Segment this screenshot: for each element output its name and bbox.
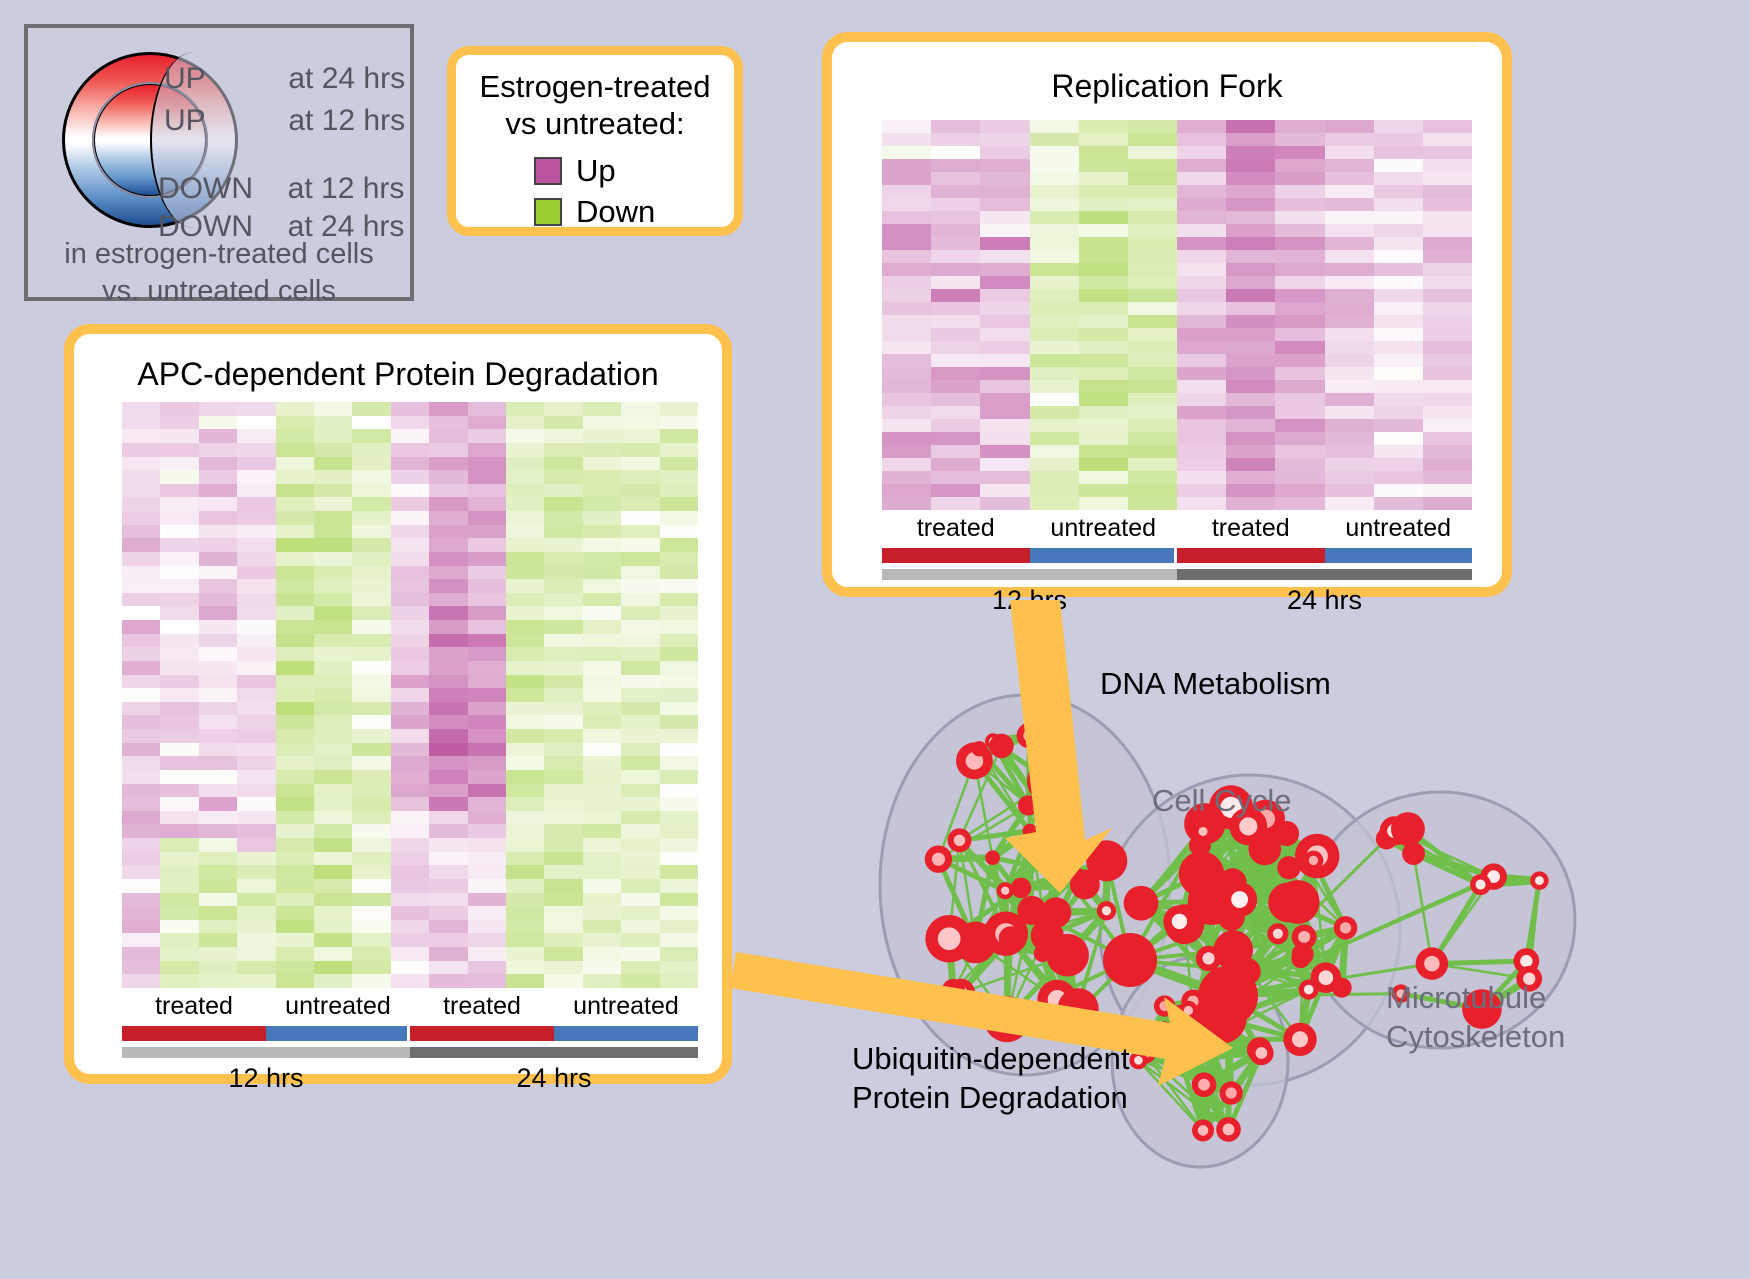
heatmap-cell [506, 879, 544, 893]
heatmap-cell [429, 688, 467, 702]
heatmap-cell [1128, 367, 1177, 380]
heatmap-cell [429, 893, 467, 907]
heatmap-cell [237, 879, 275, 893]
heatmap-cell [122, 443, 160, 457]
heatmap-cell [1128, 198, 1177, 211]
heatmap-cell [1128, 133, 1177, 146]
node-outer-ring [1034, 945, 1051, 962]
heatmap-cell [314, 824, 352, 838]
heatmap-cell [122, 402, 160, 416]
network-node[interactable] [1299, 980, 1319, 1000]
network-node[interactable] [1216, 1117, 1241, 1142]
heatmap-cell [1226, 198, 1275, 211]
heatmap-cell [1226, 133, 1275, 146]
network-node[interactable] [1017, 896, 1046, 925]
heatmap-cell [544, 511, 582, 525]
network-node[interactable] [1196, 946, 1221, 971]
heatmap-cell [122, 729, 160, 743]
network-node[interactable] [1186, 1021, 1206, 1041]
heatmap-cell [583, 893, 621, 907]
heatmap-cell [429, 470, 467, 484]
network-node[interactable] [948, 828, 972, 852]
heatmap-cell [391, 620, 429, 634]
heatmap-cell [429, 511, 467, 525]
heatmap-cell [1374, 159, 1423, 172]
sample-group-label: untreated [1030, 514, 1178, 543]
heatmap-cell [314, 525, 352, 539]
heatmap-cell [160, 933, 198, 947]
heatmap-cell [1079, 458, 1128, 471]
heatmap-cell [429, 552, 467, 566]
network-node[interactable] [925, 915, 972, 962]
heatmap-cell [391, 647, 429, 661]
network-node[interactable] [1192, 1072, 1217, 1097]
network-node[interactable] [1152, 1021, 1175, 1044]
heatmap-cell [468, 511, 506, 525]
heatmap-cell [1128, 406, 1177, 419]
heatmap-cell [276, 552, 314, 566]
heatmap-cell [160, 402, 198, 416]
heatmap-cell [429, 497, 467, 511]
heatmap-cell [980, 406, 1029, 419]
heatmap-cell [506, 620, 544, 634]
heatmap-cell [391, 824, 429, 838]
heatmap-cell [882, 341, 931, 354]
heatmap-cell [1030, 172, 1079, 185]
heatmap-cell [544, 525, 582, 539]
heatmap-cell [1128, 393, 1177, 406]
heatmap-cell [1275, 458, 1324, 471]
heatmap-cell [1374, 419, 1423, 432]
heatmap-cell [160, 470, 198, 484]
network-node[interactable] [1034, 945, 1051, 962]
heatmap-cell [544, 729, 582, 743]
node-inner-core [1520, 955, 1532, 967]
heatmap-cell [122, 715, 160, 729]
heatmap-cell [199, 402, 237, 416]
heatmap-cell [506, 606, 544, 620]
scale-time-12: at 12 hrs [288, 104, 405, 137]
scale-key-up-12: UP [164, 104, 206, 138]
time-bar-segment [122, 1047, 410, 1058]
heatmap-cell [276, 865, 314, 879]
heatmap-cell [1423, 432, 1472, 445]
scale-key-down-12: DOWN [158, 172, 253, 206]
heatmap-cell [468, 675, 506, 689]
network-node[interactable] [1416, 947, 1448, 979]
heatmap-cell [429, 429, 467, 443]
network-node[interactable] [1194, 822, 1213, 841]
heatmap-cell [314, 933, 352, 947]
heatmap-cell [1079, 237, 1128, 250]
heatmap-cell [1079, 250, 1128, 263]
network-node[interactable] [1011, 878, 1032, 899]
heatmap-cell [352, 947, 390, 961]
heatmap-cell [1177, 406, 1226, 419]
heatmap-cell [1374, 237, 1423, 250]
heatmap-cell [314, 852, 352, 866]
heatmap-cell [621, 497, 659, 511]
heatmap-cell [1177, 393, 1226, 406]
heatmap-cell [621, 457, 659, 471]
heatmap-cell [1079, 133, 1128, 146]
heatmap-cell [122, 429, 160, 443]
heatmap-cell [544, 756, 582, 770]
heatmap-cell [583, 647, 621, 661]
heatmap-cell [314, 511, 352, 525]
heatmap-cell [506, 865, 544, 879]
heatmap-cell [276, 566, 314, 580]
heatmap-cell [199, 661, 237, 675]
heatmap-cell [882, 497, 931, 510]
heatmap-cell [1128, 354, 1177, 367]
heatmap-cell [429, 593, 467, 607]
network-node[interactable] [1268, 883, 1308, 923]
heatmap-cell [468, 824, 506, 838]
heatmap-cell [1374, 211, 1423, 224]
heatmap-cell [468, 961, 506, 975]
condition-bar-segment [410, 1026, 554, 1041]
heatmap-cell [1226, 211, 1275, 224]
heatmap-cell [544, 484, 582, 498]
network-node[interactable] [1267, 923, 1288, 944]
heatmap-cell [391, 443, 429, 457]
heatmap-cell [391, 525, 429, 539]
network-node[interactable] [1027, 759, 1073, 805]
heatmap-cell [931, 198, 980, 211]
heatmap-cell [660, 920, 698, 934]
heatmap-cell [199, 838, 237, 852]
heatmap-cell [237, 865, 275, 879]
heatmap-cell [276, 906, 314, 920]
network-node[interactable] [999, 926, 1023, 950]
heatmap-cell [1177, 120, 1226, 133]
heatmap-cell [160, 824, 198, 838]
heatmap-cell [314, 838, 352, 852]
heatmap-cell [506, 675, 544, 689]
heatmap-cell [583, 606, 621, 620]
heatmap-cell [980, 302, 1029, 315]
heatmap-cell [1128, 289, 1177, 302]
heatmap-cell [1030, 393, 1079, 406]
heatmap-cell [314, 906, 352, 920]
node-inner-core [1318, 970, 1333, 985]
heatmap-cell [237, 688, 275, 702]
heatmap-cell [660, 756, 698, 770]
node-inner-core [1202, 952, 1214, 964]
network-node[interactable] [1249, 1041, 1273, 1065]
heatmap-cell [1128, 315, 1177, 328]
heatmap-cell [583, 974, 621, 988]
heatmap-cell [1423, 263, 1472, 276]
heatmap-cell [391, 606, 429, 620]
heatmap-cell [660, 729, 698, 743]
heatmap-cell [199, 961, 237, 975]
heatmap-cell [1128, 471, 1177, 484]
heatmap-cell [1325, 120, 1374, 133]
heatmap-cell [1030, 458, 1079, 471]
heatmap-cell [1177, 445, 1226, 458]
heatmap-cell [980, 497, 1029, 510]
heatmap-cell [583, 933, 621, 947]
heatmap-cell [980, 159, 1029, 172]
heatmap-cell [1226, 393, 1275, 406]
heatmap-cell [122, 702, 160, 716]
heatmap-cell [391, 879, 429, 893]
heatmap-cell [660, 457, 698, 471]
heatmap-cell [1128, 341, 1177, 354]
panel-apc-degradation: APC-dependent Protein Degradation treate… [64, 324, 732, 1084]
heatmap-cell [1030, 367, 1079, 380]
network-node[interactable] [989, 734, 1013, 758]
heatmap-cell [160, 566, 198, 580]
network-node[interactable] [1292, 943, 1314, 965]
heatmap-cell [1128, 250, 1177, 263]
heatmap-cell [660, 525, 698, 539]
heatmap-cell [980, 146, 1029, 159]
replication-fork-group-labels: treateduntreatedtreateduntreated [882, 514, 1472, 543]
heatmap-cell [122, 756, 160, 770]
heatmap-cell [429, 920, 467, 934]
node-inner-core [1476, 880, 1486, 890]
node-outer-ring [942, 979, 966, 1003]
network-node[interactable] [1470, 874, 1491, 895]
heatmap-cell [1030, 445, 1079, 458]
heatmap-cell [660, 933, 698, 947]
heatmap-cell [506, 470, 544, 484]
condition-bar-segment [1030, 548, 1178, 563]
network-node[interactable] [1277, 856, 1300, 879]
heatmap-cell [429, 661, 467, 675]
heatmap-cell [1423, 120, 1472, 133]
network-node[interactable] [1017, 723, 1043, 749]
node-outer-ring [1046, 934, 1089, 977]
heatmap-cell [199, 538, 237, 552]
heatmap-cell [1275, 354, 1324, 367]
heatmap-cell [544, 961, 582, 975]
network-node[interactable] [1192, 1119, 1214, 1141]
network-node[interactable] [1124, 886, 1159, 921]
network-node[interactable] [1057, 988, 1098, 1029]
heatmap-cell [544, 933, 582, 947]
heatmap-cell [122, 457, 160, 471]
heatmap-cell [1374, 341, 1423, 354]
network-node[interactable] [1283, 1023, 1316, 1056]
heatmap-cell [583, 497, 621, 511]
heatmap-cell [122, 688, 160, 702]
heatmap-cell [276, 743, 314, 757]
heatmap-cell [583, 552, 621, 566]
heatmap-cell [122, 552, 160, 566]
network-node[interactable] [972, 741, 987, 756]
heatmap-cell [160, 593, 198, 607]
color-scale-legend: UP at 24 hrs UP at 12 hrs DOWN at 12 hrs… [24, 24, 414, 301]
network-node[interactable] [1070, 870, 1100, 900]
heatmap-cell [160, 457, 198, 471]
heatmap-cell [122, 661, 160, 675]
network-node[interactable] [1170, 1049, 1192, 1071]
heatmap-cell [544, 770, 582, 784]
heatmap-cell [429, 838, 467, 852]
heatmap-cell [506, 756, 544, 770]
heatmap-cell [276, 838, 314, 852]
heatmap-cell [237, 743, 275, 757]
network-node[interactable] [1129, 1051, 1147, 1069]
network-node[interactable] [1046, 934, 1089, 977]
heatmap-cell [352, 429, 390, 443]
network-node[interactable] [942, 979, 966, 1003]
heatmap-cell [506, 797, 544, 811]
heatmap-cell [314, 593, 352, 607]
heatmap-cell [276, 538, 314, 552]
network-node[interactable] [1304, 851, 1324, 871]
heatmap-cell [1177, 250, 1226, 263]
heatmap-cell [429, 974, 467, 988]
heatmap-cell [980, 315, 1029, 328]
heatmap-cell [237, 675, 275, 689]
key-title-line2: vs untreated: [456, 106, 734, 143]
heatmap-cell [1325, 172, 1374, 185]
heatmap-cell [1079, 354, 1128, 367]
heatmap-cell [660, 661, 698, 675]
heatmap-cell [1423, 302, 1472, 315]
heatmap-cell [122, 470, 160, 484]
heatmap-cell [276, 784, 314, 798]
heatmap-cell [931, 484, 980, 497]
heatmap-cell [544, 634, 582, 648]
heatmap-cell [621, 961, 659, 975]
heatmap-cell [314, 743, 352, 757]
heatmap-cell [199, 620, 237, 634]
heatmap-cell [1374, 471, 1423, 484]
scale-key-up-24: UP [164, 62, 206, 96]
heatmap-cell [980, 276, 1029, 289]
network-node[interactable] [1042, 813, 1065, 836]
heatmap-cell [1275, 393, 1324, 406]
heatmap-cell [882, 328, 931, 341]
heatmap-cell [583, 715, 621, 729]
heatmap-cell [352, 525, 390, 539]
heatmap-cell [980, 172, 1029, 185]
network-node[interactable] [984, 996, 1030, 1042]
heatmap-cell [352, 893, 390, 907]
heatmap-cell [199, 947, 237, 961]
heatmap-cell [199, 743, 237, 757]
heatmap-cell [199, 525, 237, 539]
heatmap-cell [583, 457, 621, 471]
heatmap-cell [468, 606, 506, 620]
heatmap-cell [237, 511, 275, 525]
heatmap-cell [160, 538, 198, 552]
heatmap-cell [391, 715, 429, 729]
heatmap-cell [931, 471, 980, 484]
heatmap-cell [1177, 185, 1226, 198]
heatmap-cell [1423, 289, 1472, 302]
network-node[interactable] [1198, 966, 1258, 1026]
heatmap-cell [1374, 276, 1423, 289]
node-inner-core [1048, 819, 1059, 830]
heatmap-cell [429, 457, 467, 471]
heatmap-cell [1030, 354, 1079, 367]
node-outer-ring [1391, 812, 1425, 846]
heatmap-cell [352, 566, 390, 580]
heatmap-cell [1423, 224, 1472, 237]
heatmap-cell [1374, 146, 1423, 159]
heatmap-cell [1423, 406, 1472, 419]
heatmap-cell [1374, 289, 1423, 302]
heatmap-cell [391, 729, 429, 743]
heatmap-cell [980, 471, 1029, 484]
node-inner-core [1184, 1006, 1193, 1015]
heatmap-cell [621, 784, 659, 798]
heatmap-cell [1079, 211, 1128, 224]
heatmap-cell [237, 947, 275, 961]
scale-time-24: at 24 hrs [288, 62, 405, 95]
heatmap-cell [314, 675, 352, 689]
network-node[interactable] [1222, 882, 1257, 917]
heatmap-cell [660, 688, 698, 702]
heatmap-cell [1226, 497, 1275, 510]
network-node[interactable] [1334, 916, 1358, 940]
network-node[interactable] [1023, 824, 1038, 839]
sample-group-label: treated [1177, 514, 1325, 543]
network-node[interactable] [985, 850, 1000, 865]
heatmap-cell [237, 784, 275, 798]
heatmap-cell [931, 354, 980, 367]
heatmap-cell [544, 429, 582, 443]
heatmap-cell [1177, 419, 1226, 432]
network-node[interactable] [1097, 901, 1116, 920]
heatmap-cell [882, 367, 931, 380]
network-node[interactable] [1530, 871, 1548, 889]
heatmap-cell [1423, 237, 1472, 250]
heatmap-cell [352, 647, 390, 661]
heatmap-cell [660, 538, 698, 552]
heatmap-cell [391, 961, 429, 975]
heatmap-cell [391, 756, 429, 770]
heatmap-cell [1374, 133, 1423, 146]
heatmap-cell [1325, 159, 1374, 172]
heatmap-cell [1374, 185, 1423, 198]
heatmap-cell [199, 933, 237, 947]
heatmap-cell [276, 947, 314, 961]
network-node[interactable] [1179, 851, 1224, 896]
heatmap-cell [1275, 237, 1324, 250]
heatmap-cell [199, 416, 237, 430]
network-node[interactable] [925, 845, 952, 872]
node-inner-core [1201, 1039, 1211, 1049]
network-node[interactable] [1219, 1081, 1242, 1104]
heatmap-cell [931, 497, 980, 510]
heatmap-cell [276, 756, 314, 770]
heatmap-cell [1423, 497, 1472, 510]
heatmap-cell [160, 811, 198, 825]
apc-degradation-heatmap [122, 402, 698, 988]
node-inner-core [996, 1008, 1018, 1030]
heatmap-cell [314, 661, 352, 675]
scale-row-up-24: UP at 24 hrs [164, 62, 405, 96]
heatmap-cell [160, 729, 198, 743]
heatmap-cell [1374, 302, 1423, 315]
heatmap-cell [1423, 328, 1472, 341]
network-node[interactable] [1103, 933, 1157, 987]
network-node[interactable] [1391, 812, 1425, 846]
heatmap-cell [583, 865, 621, 879]
heatmap-cell [160, 675, 198, 689]
heatmap-cell [621, 743, 659, 757]
down-label: Down [576, 194, 655, 230]
network-node[interactable] [1179, 1001, 1198, 1020]
